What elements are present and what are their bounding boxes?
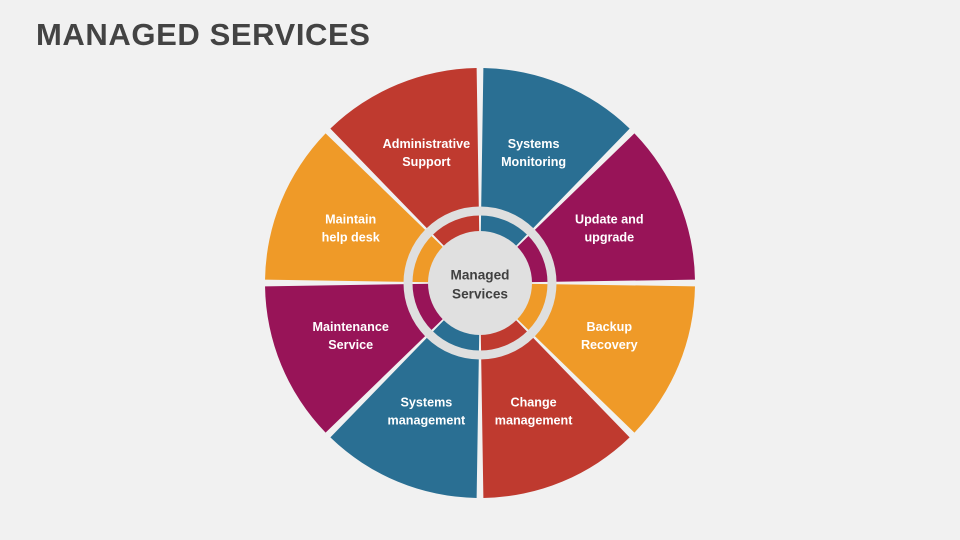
slide-canvas: MANAGED SERVICES Managed Services System… xyxy=(0,0,960,540)
page-title: MANAGED SERVICES xyxy=(36,17,371,53)
wheel-hub: Managed Services xyxy=(408,211,552,355)
managed-services-wheel: Managed Services SystemsMonitoringUpdate… xyxy=(265,68,695,498)
wheel-svg: Managed Services SystemsMonitoringUpdate… xyxy=(265,68,695,498)
hub-inner-disc xyxy=(428,231,532,335)
